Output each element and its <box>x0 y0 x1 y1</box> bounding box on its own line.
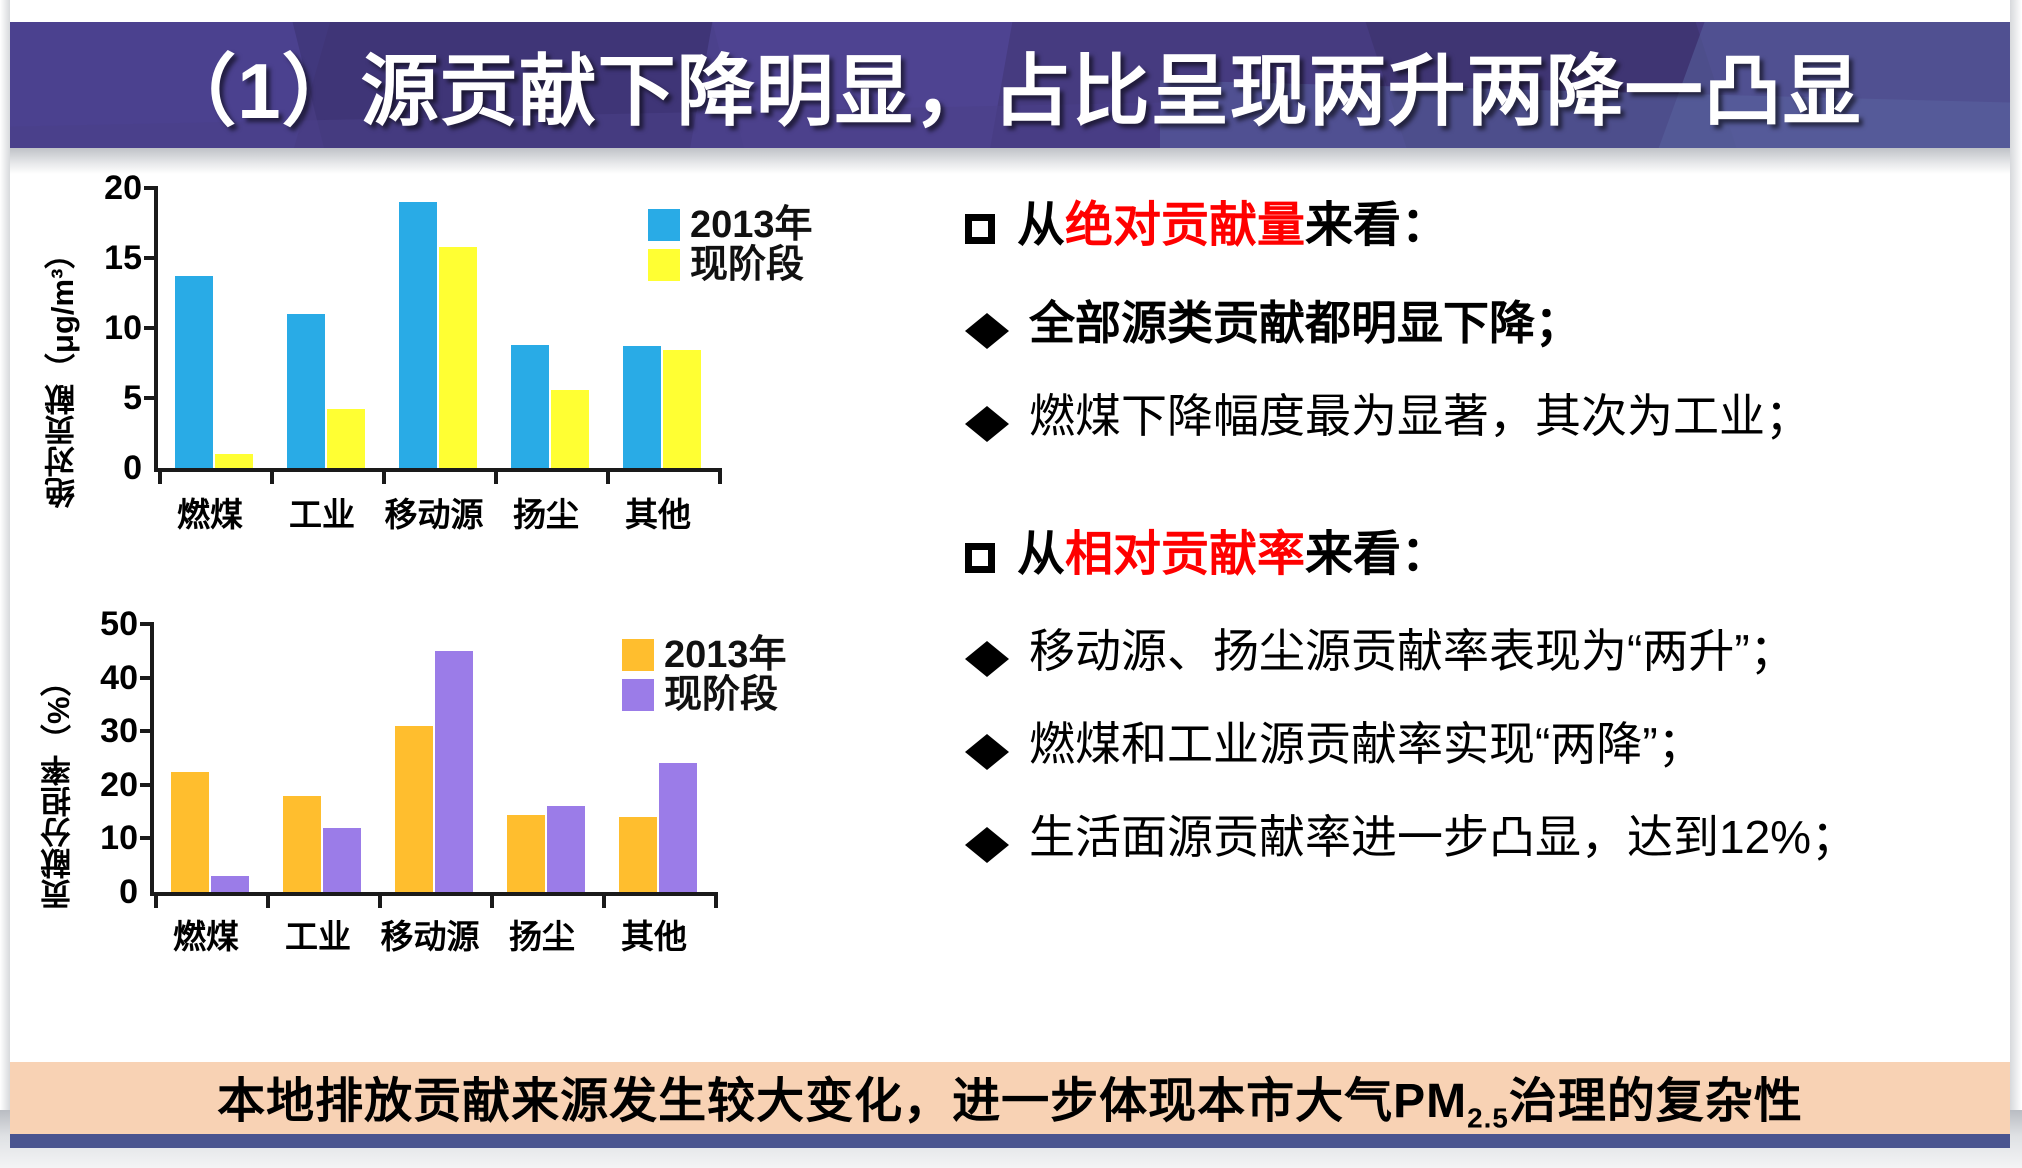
bar <box>175 276 213 468</box>
bar-group <box>270 188 382 468</box>
x-axis-category-label: 扬尘 <box>486 910 598 958</box>
bar-group <box>158 188 270 468</box>
text-block: 从绝对贡献量来看：全部源类贡献都明显下降；燃煤下降幅度最为显著，其次为工业； <box>965 200 2010 443</box>
legend-label: 现阶段 <box>664 676 778 714</box>
bar <box>283 796 321 892</box>
y-tickmark <box>140 836 154 840</box>
bullet-item-text: 移动源、扬尘源贡献率表现为“两升”； <box>1029 625 1796 678</box>
banner-bottom-stripe <box>10 1134 2010 1148</box>
x-axis-category-label: 移动源 <box>374 910 486 958</box>
x-tickmark <box>158 468 162 484</box>
x-tickmark <box>154 892 158 908</box>
bar-group <box>490 624 602 892</box>
x-tickmark <box>606 468 610 484</box>
y-tick-label: 15 <box>104 241 142 275</box>
bar-group <box>378 624 490 892</box>
bar-group <box>154 624 266 892</box>
x-tickmark <box>494 468 498 484</box>
x-axis-category-label: 其他 <box>602 488 714 536</box>
legend-swatch-icon <box>648 249 680 281</box>
bar <box>507 815 545 892</box>
bar <box>663 350 701 468</box>
y-tickmark <box>144 186 158 190</box>
diamond-bullet-icon <box>965 734 1009 752</box>
bar <box>547 806 585 892</box>
bar <box>171 772 209 892</box>
y-tickmark <box>140 729 154 733</box>
x-tickmark <box>266 892 270 908</box>
bullet-item: 生活面源贡献率进一步凸显，达到12%； <box>965 811 2010 864</box>
bullet-item: 燃煤下降幅度最为显著，其次为工业； <box>965 390 2010 443</box>
bar <box>439 247 477 468</box>
summary-banner: 本地排放贡献来源发生较大变化，进一步体现本市大气PM2.5治理的复杂性 <box>10 1062 2010 1134</box>
bullet-item: 燃煤和工业源贡献率实现“两降”； <box>965 718 2010 771</box>
bar <box>619 817 657 892</box>
square-bullet-icon <box>965 543 995 573</box>
frame-top-edge <box>0 0 2022 22</box>
banner-subscript: 2.5 <box>1467 1103 1509 1134</box>
legend-swatch-icon <box>622 639 654 671</box>
chart2-y-tick-labels: 01020304050 <box>74 624 138 892</box>
x-axis-category-label: 工业 <box>266 488 378 536</box>
chart2-x-axis-labels: 燃煤工业移动源扬尘其他 <box>150 910 710 958</box>
y-tick-label: 20 <box>100 768 138 802</box>
x-tickmark <box>270 468 274 484</box>
y-tickmark <box>144 396 158 400</box>
chart-absolute-contribution: 绝对贡献（μg/m³） 05101520 燃煤工业移动源扬尘其他 2013年现阶… <box>12 170 942 610</box>
bullet-item-text: 全部源类贡献都明显下降； <box>1029 297 1581 350</box>
frame-left-edge <box>0 0 10 1168</box>
bullet-item: 全部源类贡献都明显下降； <box>965 297 2010 350</box>
y-tick-label: 0 <box>119 875 138 909</box>
bullet-item-text: 燃煤下降幅度最为显著，其次为工业； <box>1029 390 1811 443</box>
y-tickmark <box>144 256 158 260</box>
x-tickmark <box>490 892 494 908</box>
text-block: 从相对贡献率来看：移动源、扬尘源贡献率表现为“两升”；燃煤和工业源贡献率实现“两… <box>965 529 2010 864</box>
header-accent: 相对贡献率 <box>1065 528 1305 581</box>
x-axis-category-label: 燃煤 <box>154 488 266 536</box>
chart1-legend: 2013年现阶段 <box>648 206 813 284</box>
block-header: 从绝对贡献量来看： <box>965 200 2010 253</box>
legend-swatch-icon <box>622 679 654 711</box>
slide-title-bar: （1）源贡献下降明显，占比呈现两升两降一凸显 <box>10 22 2010 148</box>
bullet-text-column: 从绝对贡献量来看：全部源类贡献都明显下降；燃煤下降幅度最为显著，其次为工业；从相… <box>965 200 2010 904</box>
legend-swatch-icon <box>648 209 680 241</box>
chart1-plot-area <box>154 188 718 472</box>
legend-label: 现阶段 <box>690 246 804 284</box>
y-tick-label: 10 <box>100 821 138 855</box>
bullet-item: 移动源、扬尘源贡献率表现为“两升”； <box>965 625 2010 678</box>
x-tickmark <box>602 892 606 908</box>
x-axis-category-label: 其他 <box>598 910 710 958</box>
block-header-text: 从相对贡献率来看： <box>1017 529 1449 582</box>
x-tickmark <box>714 892 718 908</box>
legend-entry: 现阶段 <box>648 246 813 284</box>
block-header: 从相对贡献率来看： <box>965 529 2010 582</box>
bar <box>395 726 433 892</box>
bullet-item-text: 生活面源贡献率进一步凸显，达到12%； <box>1029 811 1857 864</box>
y-tickmark <box>140 676 154 680</box>
bar <box>623 346 661 468</box>
y-tick-label: 20 <box>104 171 142 205</box>
bar <box>551 390 589 468</box>
legend-entry: 2013年 <box>648 206 813 244</box>
legend-entry: 2013年 <box>622 636 787 674</box>
legend-label: 2013年 <box>664 636 787 674</box>
diamond-bullet-icon <box>965 827 1009 845</box>
slide: （1）源贡献下降明显，占比呈现两升两降一凸显 绝对贡献（μg/m³） 05101… <box>0 0 2022 1168</box>
diamond-bullet-icon <box>965 313 1009 331</box>
bullet-item-text: 燃煤和工业源贡献率实现“两降”； <box>1029 718 1704 771</box>
legend-entry: 现阶段 <box>622 676 787 714</box>
chart2-legend: 2013年现阶段 <box>622 636 787 714</box>
bar <box>327 409 365 468</box>
banner-part2: 治理的复杂性 <box>1509 1075 1803 1128</box>
x-axis-category-label: 工业 <box>262 910 374 958</box>
bar <box>399 202 437 468</box>
charts-column: 绝对贡献（μg/m³） 05101520 燃煤工业移动源扬尘其他 2013年现阶… <box>12 170 942 1040</box>
y-tickmark <box>140 783 154 787</box>
bar <box>511 345 549 468</box>
y-tick-label: 10 <box>104 311 142 345</box>
legend-label: 2013年 <box>690 206 813 244</box>
frame-right-edge <box>2010 0 2022 1168</box>
chart-relative-contribution: 贡献分担率（%） 01020304050 燃煤工业移动源扬尘其他 2013年现阶… <box>12 610 942 1040</box>
x-tickmark <box>378 892 382 908</box>
bar-group <box>266 624 378 892</box>
bar-group <box>382 188 494 468</box>
diamond-bullet-icon <box>965 641 1009 659</box>
bar <box>215 454 253 468</box>
bar <box>287 314 325 468</box>
square-bullet-icon <box>965 214 995 244</box>
header-accent: 绝对贡献量 <box>1065 199 1305 252</box>
chart1-y-tick-labels: 05101520 <box>78 188 142 468</box>
header-prefix: 从 <box>1017 528 1065 581</box>
y-tick-label: 50 <box>100 607 138 641</box>
summary-banner-text: 本地排放贡献来源发生较大变化，进一步体现本市大气PM2.5治理的复杂性 <box>217 1061 1803 1135</box>
y-tick-label: 0 <box>123 451 142 485</box>
x-tickmark <box>382 468 386 484</box>
x-axis-category-label: 燃煤 <box>150 910 262 958</box>
page-title: （1）源贡献下降明显，占比呈现两升两降一凸显 <box>10 22 2010 148</box>
banner-part1: 本地排放贡献来源发生较大变化，进一步体现本市大气PM <box>217 1075 1467 1128</box>
chart1-x-axis-labels: 燃煤工业移动源扬尘其他 <box>154 488 714 536</box>
diamond-bullet-icon <box>965 406 1009 424</box>
x-axis-category-label: 移动源 <box>378 488 490 536</box>
y-tickmark <box>144 326 158 330</box>
block-spacer <box>965 483 2010 529</box>
y-tickmark <box>140 622 154 626</box>
bar-group <box>494 188 606 468</box>
bar <box>435 651 473 892</box>
y-tick-label: 30 <box>100 714 138 748</box>
y-tick-label: 5 <box>123 381 142 415</box>
header-suffix: 来看： <box>1305 528 1449 581</box>
header-prefix: 从 <box>1017 199 1065 252</box>
bar <box>211 876 249 892</box>
block-header-text: 从绝对贡献量来看： <box>1017 200 1449 253</box>
y-tick-label: 40 <box>100 661 138 695</box>
chart1-bars <box>158 188 718 468</box>
bar <box>323 828 361 892</box>
bar <box>659 763 697 892</box>
x-axis-category-label: 扬尘 <box>490 488 602 536</box>
x-tickmark <box>718 468 722 484</box>
header-suffix: 来看： <box>1305 199 1449 252</box>
